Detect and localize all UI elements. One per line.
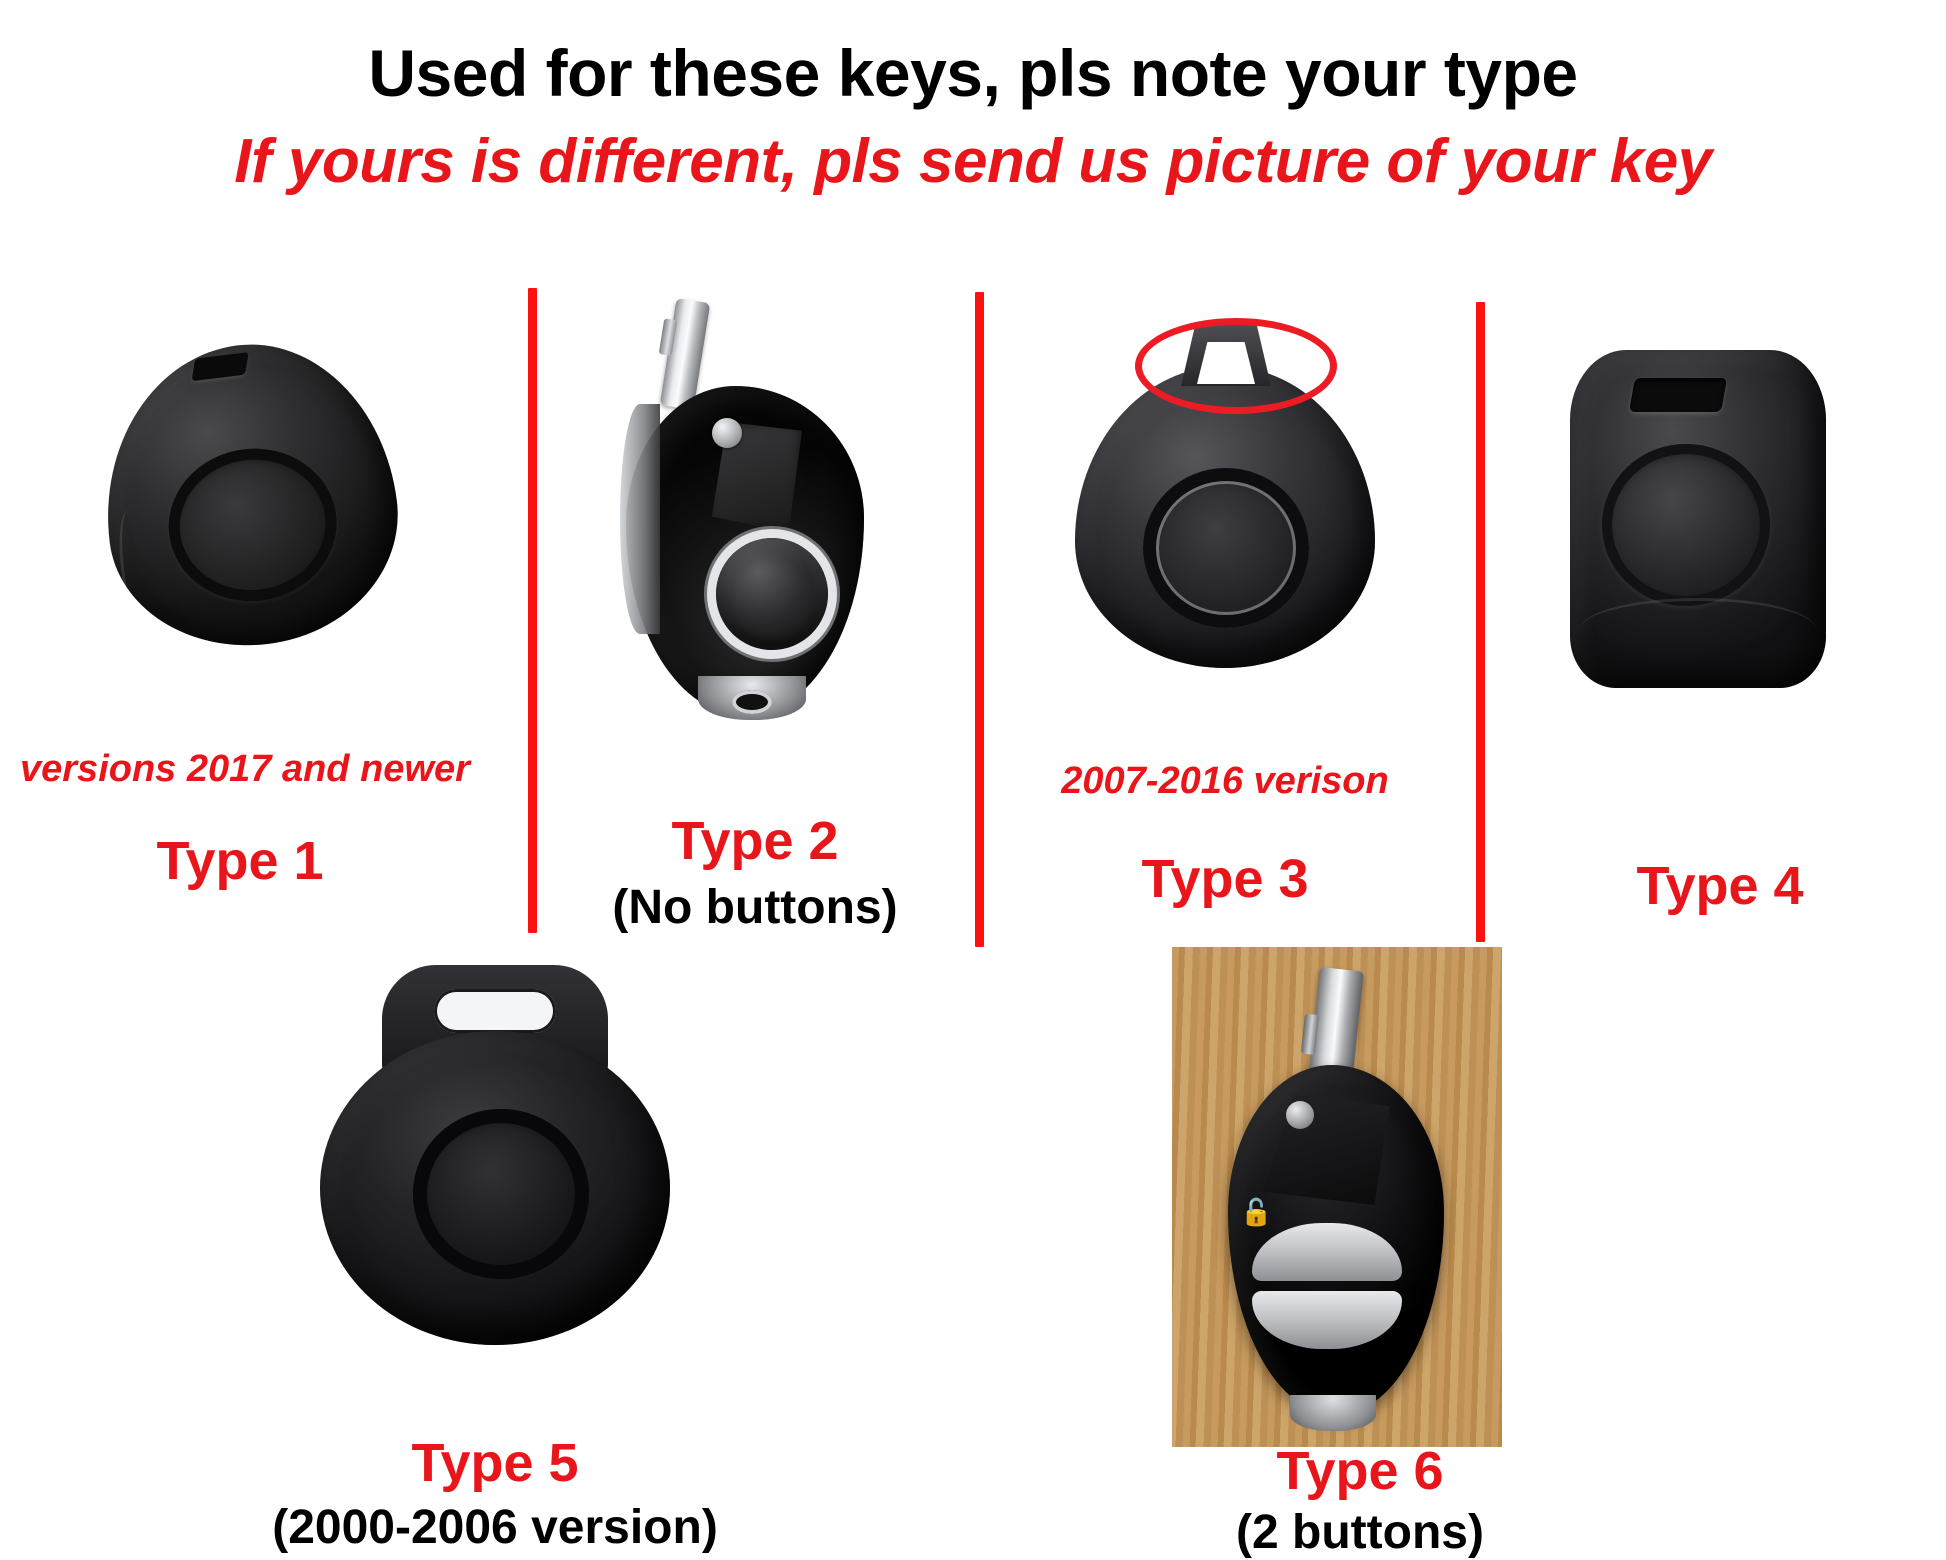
key-type-1-image: [105, 345, 395, 645]
type-3-label: Type 3: [1000, 848, 1450, 910]
divider-2: [975, 292, 984, 947]
key-type-6-image: 🔓: [1172, 947, 1502, 1447]
type-5-sub-note: (2000-2006 version): [225, 1500, 765, 1555]
key-fob-teardrop-loop-highlighted-icon: [1075, 318, 1375, 668]
key-type-5-image: [320, 965, 670, 1345]
key-fob-with-blade-single-button-icon: [620, 300, 870, 720]
type-2-sub-note: (No buttons): [545, 880, 965, 935]
page-title: Used for these keys, pls note your type: [0, 40, 1946, 107]
key-fob-photo-two-buttons-on-wood-icon: 🔓: [1172, 947, 1502, 1447]
key-type-3-image: [1075, 318, 1375, 668]
type-6-label: Type 6: [1150, 1440, 1570, 1502]
page-subtitle: If yours is different, pls send us pictu…: [0, 129, 1946, 194]
type-1-label: Type 1: [20, 830, 460, 892]
divider-3: [1476, 302, 1485, 942]
key-type-2-image: [620, 300, 870, 720]
type-6-sub-note: (2 buttons): [1110, 1505, 1610, 1560]
key-fob-round-oval-loop-icon: [320, 965, 670, 1345]
divider-1: [528, 288, 537, 933]
type-2-label: Type 2: [545, 810, 965, 872]
key-fob-rounded-rectangle-icon: [1570, 350, 1826, 688]
type-5-label: Type 5: [285, 1432, 705, 1494]
key-type-4-image: [1570, 350, 1826, 688]
red-highlight-ellipse-icon: [1135, 318, 1337, 414]
type-3-version-note: 2007-2016 verison: [1000, 760, 1450, 803]
type-4-label: Type 4: [1510, 855, 1930, 917]
unlock-button-top-icon: [1252, 1223, 1402, 1281]
header: Used for these keys, pls note your type …: [0, 40, 1946, 194]
key-fob-teardrop-matte-icon: [88, 328, 412, 661]
lock-button-bottom-icon: [1252, 1291, 1402, 1349]
padlock-icon: 🔓: [1240, 1199, 1262, 1225]
type-1-version-note: versions 2017 and newer: [20, 748, 460, 791]
